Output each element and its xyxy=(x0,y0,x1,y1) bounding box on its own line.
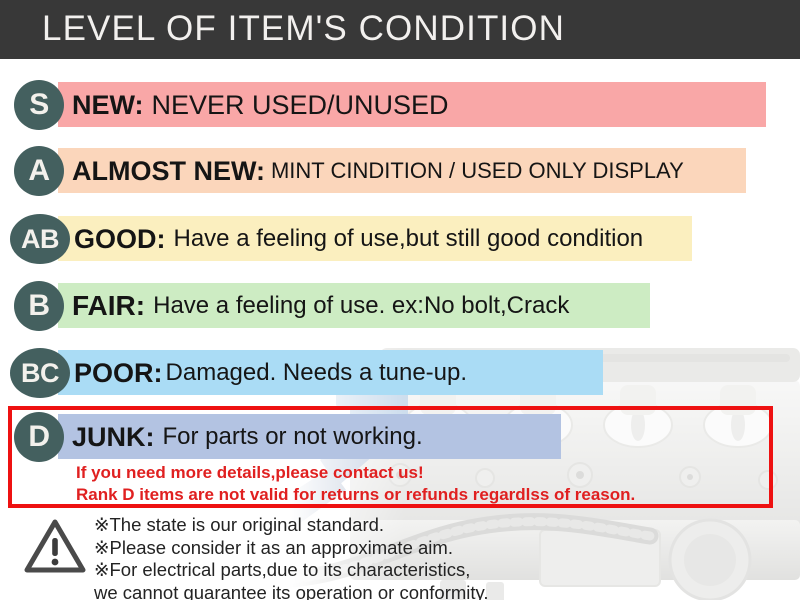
grade-badge-d: D xyxy=(14,412,64,462)
footer-note-2: ※Please consider it as an approximate ai… xyxy=(94,537,489,560)
grade-text-s: NEW: NEVER USED/UNUSED xyxy=(72,84,449,126)
grade-description-a: MINT CINDITION / USED ONLY DISPLAY xyxy=(271,158,684,184)
grade-badge-b: B xyxy=(14,281,64,331)
footer-note-3: ※For electrical parts,due to its charact… xyxy=(94,559,489,582)
grade-text-b: FAIR: Have a feeling of use. ex:No bolt,… xyxy=(72,285,569,327)
page-title: LEVEL OF ITEM'S CONDITION xyxy=(42,9,565,49)
grade-text-bc: POOR: Damaged. Needs a tune-up. xyxy=(74,352,467,394)
grade-description-s: NEVER USED/UNUSED xyxy=(152,90,449,121)
grade-label-bc: POOR: xyxy=(74,358,163,389)
footer-note-1: ※The state is our original standard. xyxy=(94,514,489,537)
grade-description-ab: Have a feeling of use,but still good con… xyxy=(174,225,644,253)
footer-note-4: we cannot guarantee its operation or con… xyxy=(94,582,489,600)
grade-label-b: FAIR: xyxy=(72,290,145,322)
grade-badge-ab: AB xyxy=(10,214,70,264)
grade-label-d: JUNK: xyxy=(72,422,155,453)
condition-grade-chart: LEVEL OF ITEM'S CONDITION S NEW: NEVER U… xyxy=(0,0,800,600)
grade-description-b: Have a feeling of use. ex:No bolt,Crack xyxy=(153,292,569,320)
alert-line-2: Rank D items are not valid for returns o… xyxy=(76,484,635,506)
grade-description-bc: Damaged. Needs a tune-up. xyxy=(166,359,468,387)
grade-badge-a: A xyxy=(14,146,64,196)
grade-text-a: ALMOST NEW: MINT CINDITION / USED ONLY D… xyxy=(72,150,684,192)
grade-text-ab: GOOD: Have a feeling of use,but still go… xyxy=(74,218,643,260)
grade-label-s: NEW: xyxy=(72,90,144,121)
alert-text-block: If you need more details,please contact … xyxy=(76,462,635,506)
grade-description-d: For parts or not working. xyxy=(163,423,423,451)
alert-line-1: If you need more details,please contact … xyxy=(76,462,635,484)
grade-badge-s: S xyxy=(14,80,64,130)
warning-triangle-icon xyxy=(24,518,86,574)
grade-text-d: JUNK: For parts or not working. xyxy=(72,416,423,458)
grade-label-ab: GOOD: xyxy=(74,224,166,255)
footer-notes: ※The state is our original standard. ※Pl… xyxy=(94,514,489,600)
grade-label-a: ALMOST NEW: xyxy=(72,156,265,187)
grade-badge-bc: BC xyxy=(10,348,70,398)
